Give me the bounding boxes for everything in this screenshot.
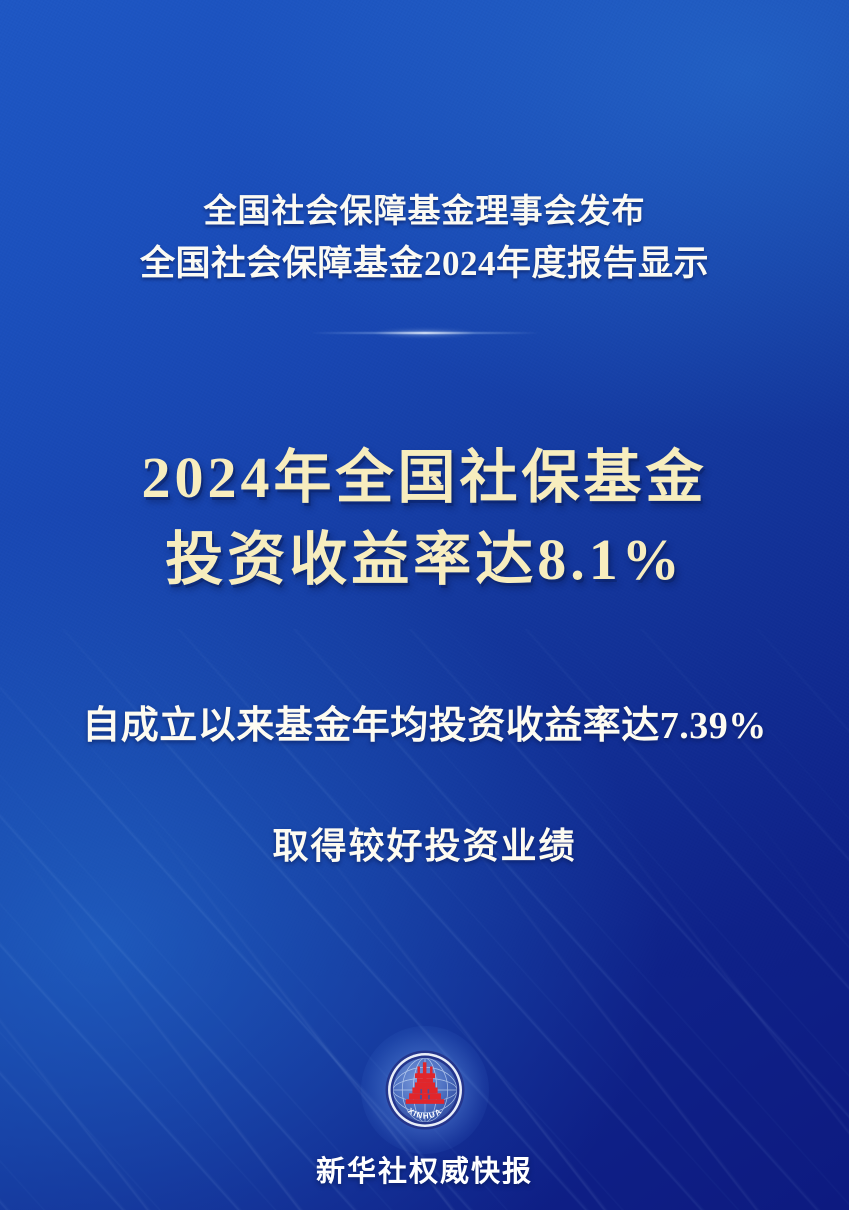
logo-container: XINHUA	[383, 1048, 467, 1132]
header-line-1: 全国社会保障基金理事会发布	[0, 186, 849, 238]
header-line-2: 全国社会保障基金2024年度报告显示	[0, 238, 849, 290]
body-line-1: 自成立以来基金年均投资收益率达7.39%	[0, 697, 849, 755]
header-block: 全国社会保障基金理事会发布 全国社会保障基金2024年度报告显示	[0, 186, 849, 290]
headline-line-2: 投资收益率达8.1%	[0, 519, 849, 601]
headline-line-1: 2024年全国社保基金	[0, 437, 849, 519]
headline-block: 2024年全国社保基金 投资收益率达8.1%	[0, 437, 849, 601]
footer-caption: 新华社权威快报	[0, 1148, 849, 1190]
xinhua-logo-icon: XINHUA	[383, 1048, 467, 1132]
poster-canvas: 全国社会保障基金理事会发布 全国社会保障基金2024年度报告显示 2024年全国…	[0, 0, 849, 1210]
body-line-2: 取得较好投资业绩	[0, 817, 849, 875]
footer-block: XINHUA 新华社权威快报	[0, 1048, 849, 1190]
divider-light-streak	[310, 330, 540, 336]
poster-content: 全国社会保障基金理事会发布 全国社会保障基金2024年度报告显示 2024年全国…	[0, 0, 849, 1210]
body-block: 自成立以来基金年均投资收益率达7.39% 取得较好投资业绩	[0, 697, 849, 875]
